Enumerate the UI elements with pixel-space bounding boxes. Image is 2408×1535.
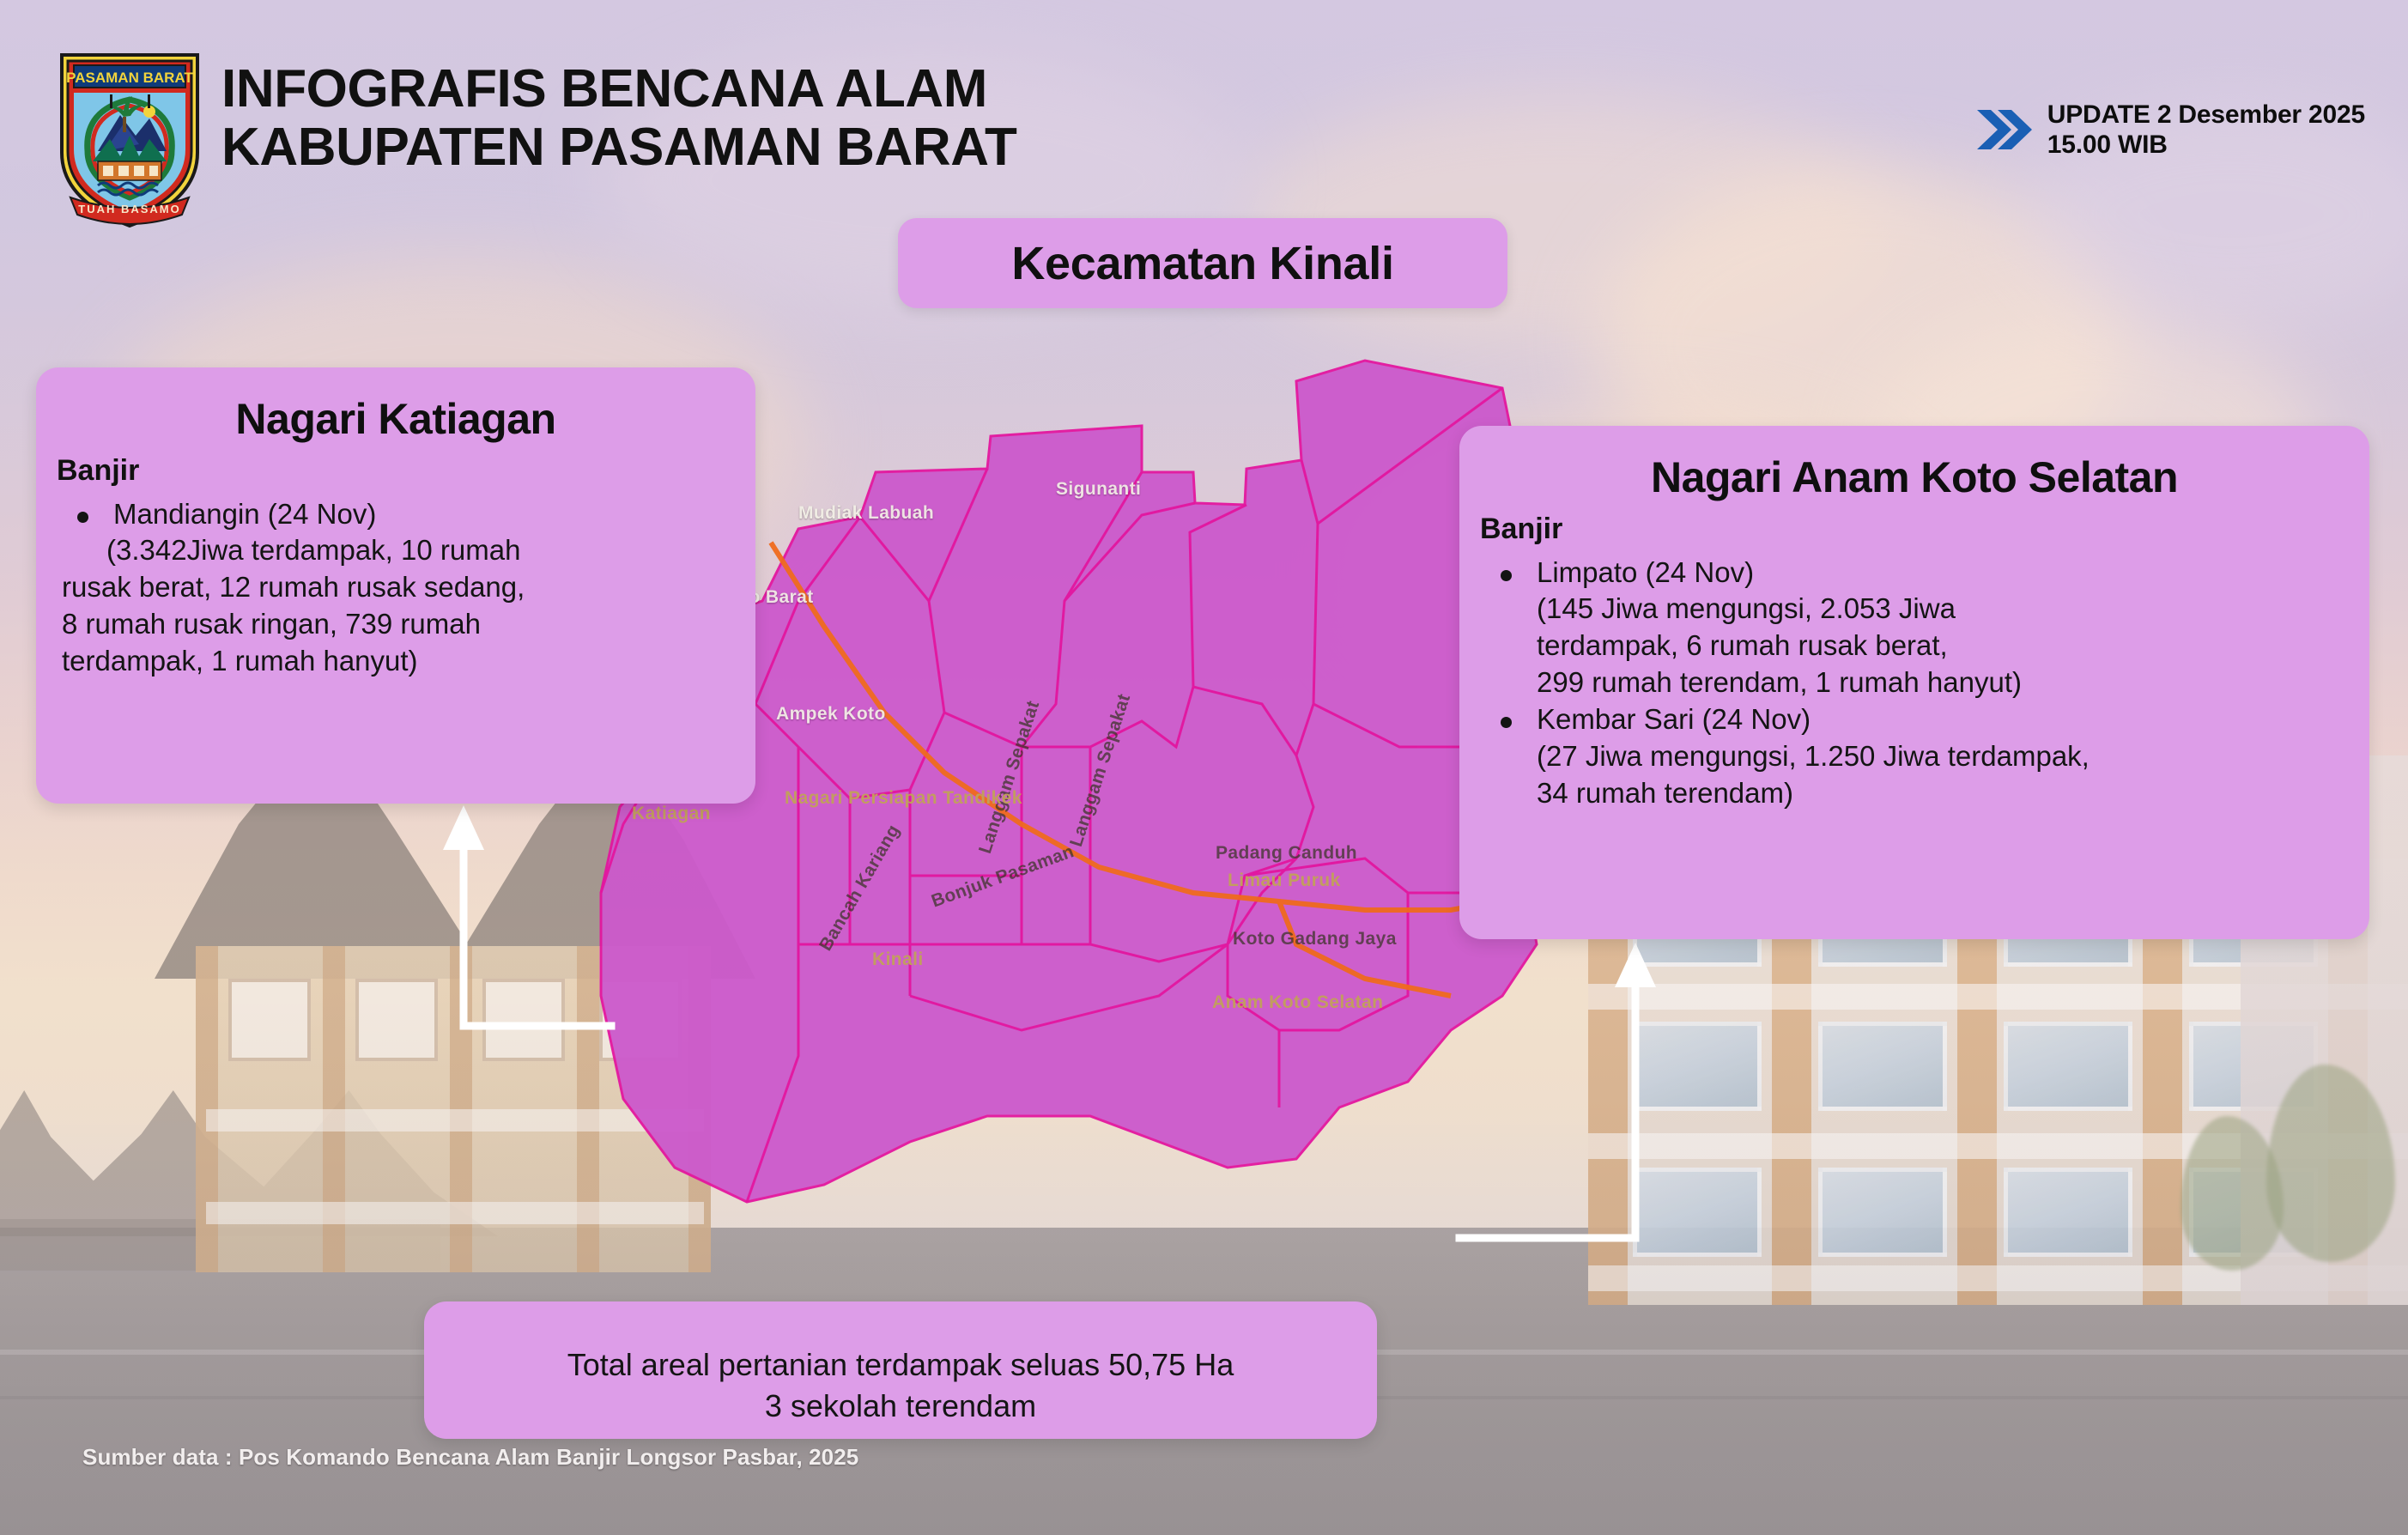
bullet-detail-line: (3.342Jiwa terdampak, 10 rumah [62, 532, 730, 569]
card-right-title: Nagari Anam Koto Selatan [1485, 455, 2344, 501]
map-label-limau-puruk: Limau Puruk [1228, 871, 1341, 891]
update-time: 15.00 WIB [2047, 130, 2365, 160]
map-label-padang-canduh: Padang Canduh [1216, 843, 1357, 864]
card-left-section: Banjir [57, 454, 730, 488]
bullet-dot-icon [77, 512, 88, 523]
bullet-detail-line: terdampak, 6 rumah rusak berat, [1485, 628, 2344, 664]
bullet-detail-line: rusak berat, 12 rumah rusak sedang, [62, 569, 730, 606]
list-item: Mandiangin (24 Nov) (3.342Jiwa terdampak… [62, 496, 730, 680]
card-summary-totals: Total areal pertanian terdampak seluas 5… [424, 1301, 1377, 1439]
map-label-katiagan: Katiagan [632, 804, 711, 824]
title-line-1: INFOGRAFIS BENCANA ALAM [221, 60, 1017, 118]
bullet-detail-line: 8 rumah rusak ringan, 739 rumah [62, 606, 730, 643]
card-right-bullet-list: Limpato (24 Nov) (145 Jiwa mengungsi, 2.… [1485, 555, 2344, 812]
infographic-canvas: Mudiak Labuah Sigunanti Ampek Koto Barat… [0, 0, 2408, 1535]
page-header: PASAMAN BARAT [0, 0, 2408, 206]
map-label-mudiak-labuah: Mudiak Labuah [798, 503, 934, 524]
bullet-heading: Kembar Sari (24 Nov) [1485, 701, 2344, 738]
update-text-block: UPDATE 2 Desember 2025 15.00 WIB [2047, 100, 2365, 161]
bullet-detail-line: 34 rumah terendam) [1485, 775, 2344, 812]
bullet-detail-line: (145 Jiwa mengungsi, 2.053 Jiwa [1485, 591, 2344, 628]
bullet-detail-line: 299 rumah terendam, 1 rumah hanyut) [1485, 664, 2344, 701]
kecamatan-label: Kecamatan Kinali [1011, 237, 1393, 290]
card-nagari-anam-koto-selatan: Nagari Anam Koto Selatan Banjir Limpato … [1459, 426, 2369, 939]
card-left-title: Nagari Katiagan [62, 397, 730, 442]
map-label-koto-gadang-jaya: Koto Gadang Jaya [1233, 929, 1397, 950]
bullet-heading: Mandiangin (24 Nov) [62, 496, 730, 533]
summary-line-2: 3 sekolah terendam [450, 1386, 1351, 1427]
bullet-detail-line: terdampak, 1 rumah hanyut) [62, 643, 730, 680]
update-stamp: UPDATE 2 Desember 2025 15.00 WIB [1975, 100, 2365, 161]
bullet-dot-icon [1501, 570, 1512, 581]
pasaman-barat-emblem-icon: PASAMAN BARAT [53, 50, 206, 230]
map-label-nagari-persiapan-tandikek: Nagari Persiapan Tandikek [785, 788, 1022, 809]
map-label-kinali: Kinali [872, 950, 924, 970]
card-nagari-katiagan: Nagari Katiagan Banjir Mandiangin (24 No… [36, 367, 755, 804]
list-item: Limpato (24 Nov) (145 Jiwa mengungsi, 2.… [1485, 555, 2344, 702]
card-left-bullet-list: Mandiangin (24 Nov) (3.342Jiwa terdampak… [62, 496, 730, 680]
emblem-svg: PASAMAN BARAT [53, 50, 206, 230]
summary-line-1: Total areal pertanian terdampak seluas 5… [450, 1322, 1351, 1386]
source-note: Sumber data : Pos Komando Bencana Alam B… [82, 1444, 858, 1471]
bullet-dot-icon [1501, 717, 1512, 728]
card-right-section: Banjir [1480, 513, 2344, 546]
title-line-2: KABUPATEN PASAMAN BARAT [221, 118, 1017, 177]
bullet-detail-line: (27 Jiwa mengungsi, 1.250 Jiwa terdampak… [1485, 738, 2344, 775]
map-label-sigunanti: Sigunanti [1056, 479, 1141, 500]
kecamatan-badge: Kecamatan Kinali [898, 218, 1507, 308]
map-label-ampek-koto: Ampek Koto [776, 704, 886, 725]
map-label-anam-koto-selatan: Anam Koto Selatan [1212, 992, 1383, 1013]
bullet-heading: Limpato (24 Nov) [1485, 555, 2344, 592]
page-title: INFOGRAFIS BENCANA ALAM KABUPATEN PASAMA… [221, 60, 1017, 177]
double-chevron-right-icon [1975, 106, 2035, 153]
update-date: UPDATE 2 Desember 2025 [2047, 100, 2365, 130]
svg-text:TUAH BASAMO: TUAH BASAMO [78, 203, 181, 215]
list-item: Kembar Sari (24 Nov) (27 Jiwa mengungsi,… [1485, 701, 2344, 812]
svg-text:PASAMAN BARAT: PASAMAN BARAT [66, 70, 193, 86]
